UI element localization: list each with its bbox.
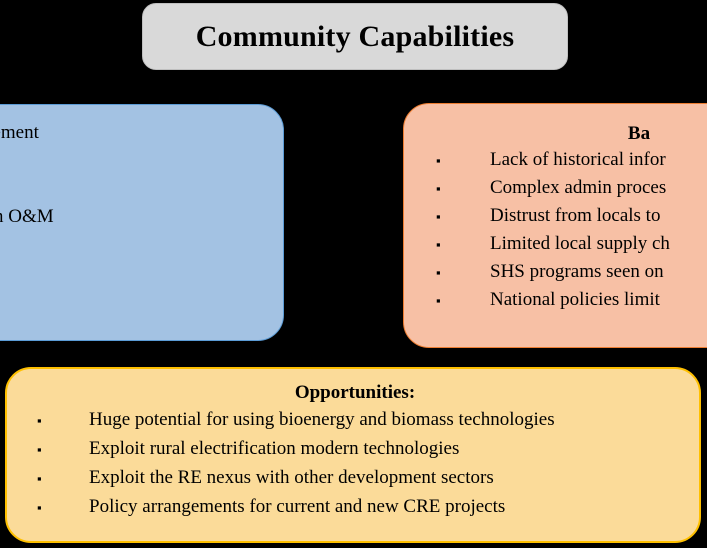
list-item-label: Exploit the RE nexus with other developm… — [89, 463, 494, 492]
panel-strengths: ▪ ommunity involvement ▪ munity ▪ design… — [0, 104, 284, 341]
bullet-square-icon: ▪ — [436, 259, 490, 286]
bullet-square-icon: ▪ — [436, 287, 490, 314]
page-title: Community Capabilities — [196, 22, 515, 52]
bullet-square-icon: ▪ — [436, 175, 490, 202]
bullet-square-icon: ▪ — [436, 203, 490, 230]
list-item-label: Distrust from locals to — [490, 202, 660, 229]
panel-barriers-list: ▪ Lack of historical infor ▪ Complex adm… — [404, 146, 707, 314]
panel-barriers-heading: Ba — [404, 124, 707, 144]
panel-strengths-content: ▪ ommunity involvement ▪ munity ▪ design… — [0, 105, 284, 259]
list-item-label: support to perform O&M — [0, 203, 54, 230]
list-item: ▪ munity — [0, 147, 284, 175]
list-item-label: National policies limit — [490, 286, 660, 313]
list-item-label: Policy arrangements for current and new … — [89, 492, 505, 521]
list-item: ▪ Exploit rural electrification modern t… — [37, 434, 701, 463]
list-item: ▪ support to perform O&M — [0, 203, 284, 231]
diagram-title-box: Community Capabilities — [142, 3, 568, 70]
list-item: ▪ National policies limit — [436, 286, 707, 314]
list-item-label: Limited local supply ch — [490, 230, 670, 257]
list-item: ▪ Huge potential for using bioenergy and… — [37, 405, 701, 434]
bullet-square-icon: ▪ — [436, 231, 490, 258]
bullet-square-icon: ▪ — [37, 465, 89, 492]
panel-opportunities-heading: Opportunities: — [7, 383, 701, 403]
diagram-canvas: Community Capabilities ▪ ommunity involv… — [0, 0, 707, 548]
panel-strengths-list: ▪ ommunity involvement ▪ munity ▪ design… — [0, 119, 284, 259]
panel-barriers-content: Ba ▪ Lack of historical infor ▪ Complex … — [404, 104, 707, 314]
list-item-label: Huge potential for using bioenergy and b… — [89, 405, 555, 434]
list-item: ▪ Limited local supply ch — [436, 230, 707, 258]
list-item-label: SHS programs seen on — [490, 258, 664, 285]
list-item: ▪ Lack of historical infor — [436, 146, 707, 174]
bullet-square-icon: ▪ — [37, 407, 89, 434]
list-item-label: Exploit rural electrification modern tec… — [89, 434, 459, 463]
bullet-square-icon: ▪ — [436, 147, 490, 174]
list-item: ▪ design — [0, 175, 284, 203]
panel-opportunities-list: ▪ Huge potential for using bioenergy and… — [7, 405, 701, 521]
list-item: ▪ SHS programs seen on — [436, 258, 707, 286]
list-item: ▪ ommunity involvement — [0, 119, 284, 147]
list-item: ▪ Exploit the RE nexus with other develo… — [37, 463, 701, 492]
panel-opportunities-content: Opportunities: ▪ Huge potential for usin… — [7, 369, 701, 521]
list-item: ▪ Policy arrangements for current and ne… — [37, 492, 701, 521]
list-item: ▪ Complex admin proces — [436, 174, 707, 202]
panel-opportunities: Opportunities: ▪ Huge potential for usin… — [5, 367, 701, 543]
list-item: ▪ Distrust from locals to — [436, 202, 707, 230]
bullet-square-icon: ▪ — [37, 436, 89, 463]
panel-barriers: Ba ▪ Lack of historical infor ▪ Complex … — [403, 103, 707, 348]
bullet-square-icon: ▪ — [37, 494, 89, 521]
list-item-label: Lack of historical infor — [490, 146, 666, 173]
list-item: ▪ vities — [0, 231, 284, 259]
list-item-label: Complex admin proces — [490, 174, 666, 201]
list-item-label: ommunity involvement — [0, 119, 39, 146]
